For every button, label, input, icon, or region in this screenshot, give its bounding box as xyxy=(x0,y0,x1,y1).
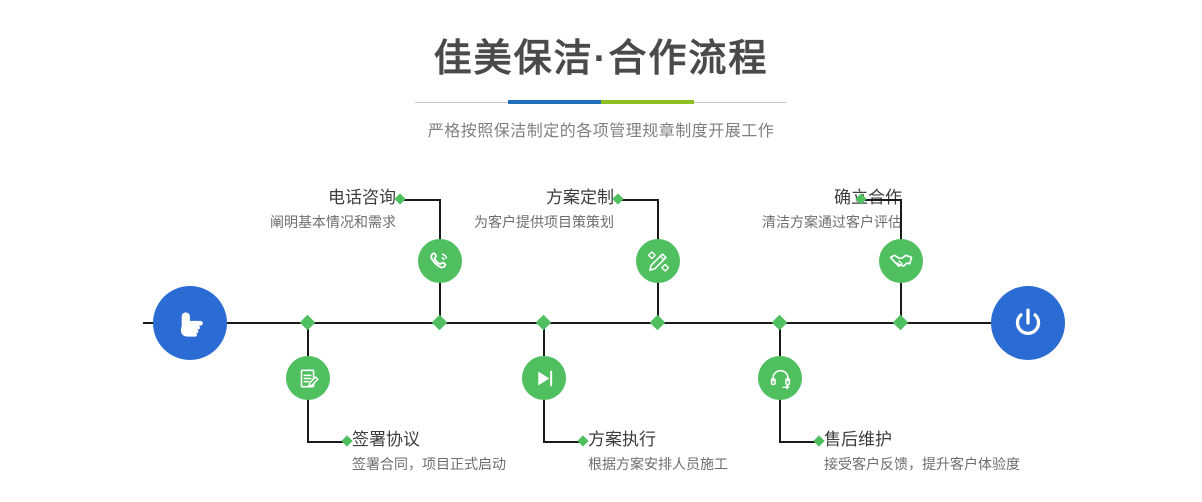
connector-diamond-step2 xyxy=(341,435,352,446)
step-desc-step1: 阐明基本情况和需求 xyxy=(270,209,396,233)
step-icon-step4 xyxy=(522,356,566,400)
step-title-step3: 方案定制 xyxy=(474,187,614,209)
axis-diamond-step6 xyxy=(893,315,909,331)
step-desc-step5: 接受客户反馈，提升客户体验度 xyxy=(824,451,1020,475)
axis-diamond-step4 xyxy=(536,315,552,331)
step-title-step2: 签署协议 xyxy=(352,429,506,451)
axis-diamond-step1 xyxy=(432,315,448,331)
step-label-step1: 电话咨询 阐明基本情况和需求 xyxy=(270,187,396,233)
handshake-icon xyxy=(888,248,914,274)
step-icon-step5 xyxy=(758,356,802,400)
step-desc-step6: 清洁方案通过客户评估 xyxy=(762,209,902,233)
step-label-step5: 售后维护 接受客户反馈，提升客户体验度 xyxy=(824,429,1020,475)
axis-diamond-step2 xyxy=(300,315,316,331)
axis-diamond-step5 xyxy=(772,315,788,331)
connector-hline-step1 xyxy=(400,199,440,201)
step-title-step1: 电话咨询 xyxy=(270,187,396,209)
connector-diamond-step5 xyxy=(813,435,824,446)
step-icon-step1 xyxy=(418,239,462,283)
step-label-step6: 确立合作 清洁方案通过客户评估 xyxy=(762,187,902,233)
document-edit-icon xyxy=(296,366,321,391)
connector-hline-step3 xyxy=(618,199,658,201)
power-icon xyxy=(1006,301,1050,345)
step-icon-step3 xyxy=(636,239,680,283)
process-flow-diagram: 电话咨询 阐明基本情况和需求 签署协议 签署合同，项目正式启动 方案定制 为客户… xyxy=(0,0,1202,502)
timeline-axis xyxy=(143,322,1059,324)
pencil-ruler-icon xyxy=(646,249,671,274)
step-icon-step6 xyxy=(879,239,923,283)
headset-support-icon xyxy=(768,366,793,391)
step-icon-step2 xyxy=(286,356,330,400)
step-title-step4: 方案执行 xyxy=(588,429,728,451)
step-label-step3: 方案定制 为客户提供项目策策划 xyxy=(474,187,614,233)
flow-end-node xyxy=(991,286,1065,360)
play-skip-icon xyxy=(532,366,557,391)
step-desc-step3: 为客户提供项目策策划 xyxy=(474,209,614,233)
axis-diamond-step3 xyxy=(650,315,666,331)
pointing-hand-icon xyxy=(169,302,211,344)
flow-start-node xyxy=(153,286,227,360)
connector-diamond-step3 xyxy=(612,193,623,204)
step-label-step2: 签署协议 签署合同，项目正式启动 xyxy=(352,429,506,475)
step-title-step6: 确立合作 xyxy=(762,187,902,209)
phone-call-icon xyxy=(427,248,453,274)
connector-diamond-step1 xyxy=(394,193,405,204)
connector-hline-step6 xyxy=(861,199,901,201)
step-title-step5: 售后维护 xyxy=(824,429,1020,451)
step-desc-step4: 根据方案安排人员施工 xyxy=(588,451,728,475)
step-desc-step2: 签署合同，项目正式启动 xyxy=(352,451,506,475)
connector-diamond-step4 xyxy=(577,435,588,446)
step-label-step4: 方案执行 根据方案安排人员施工 xyxy=(588,429,728,475)
